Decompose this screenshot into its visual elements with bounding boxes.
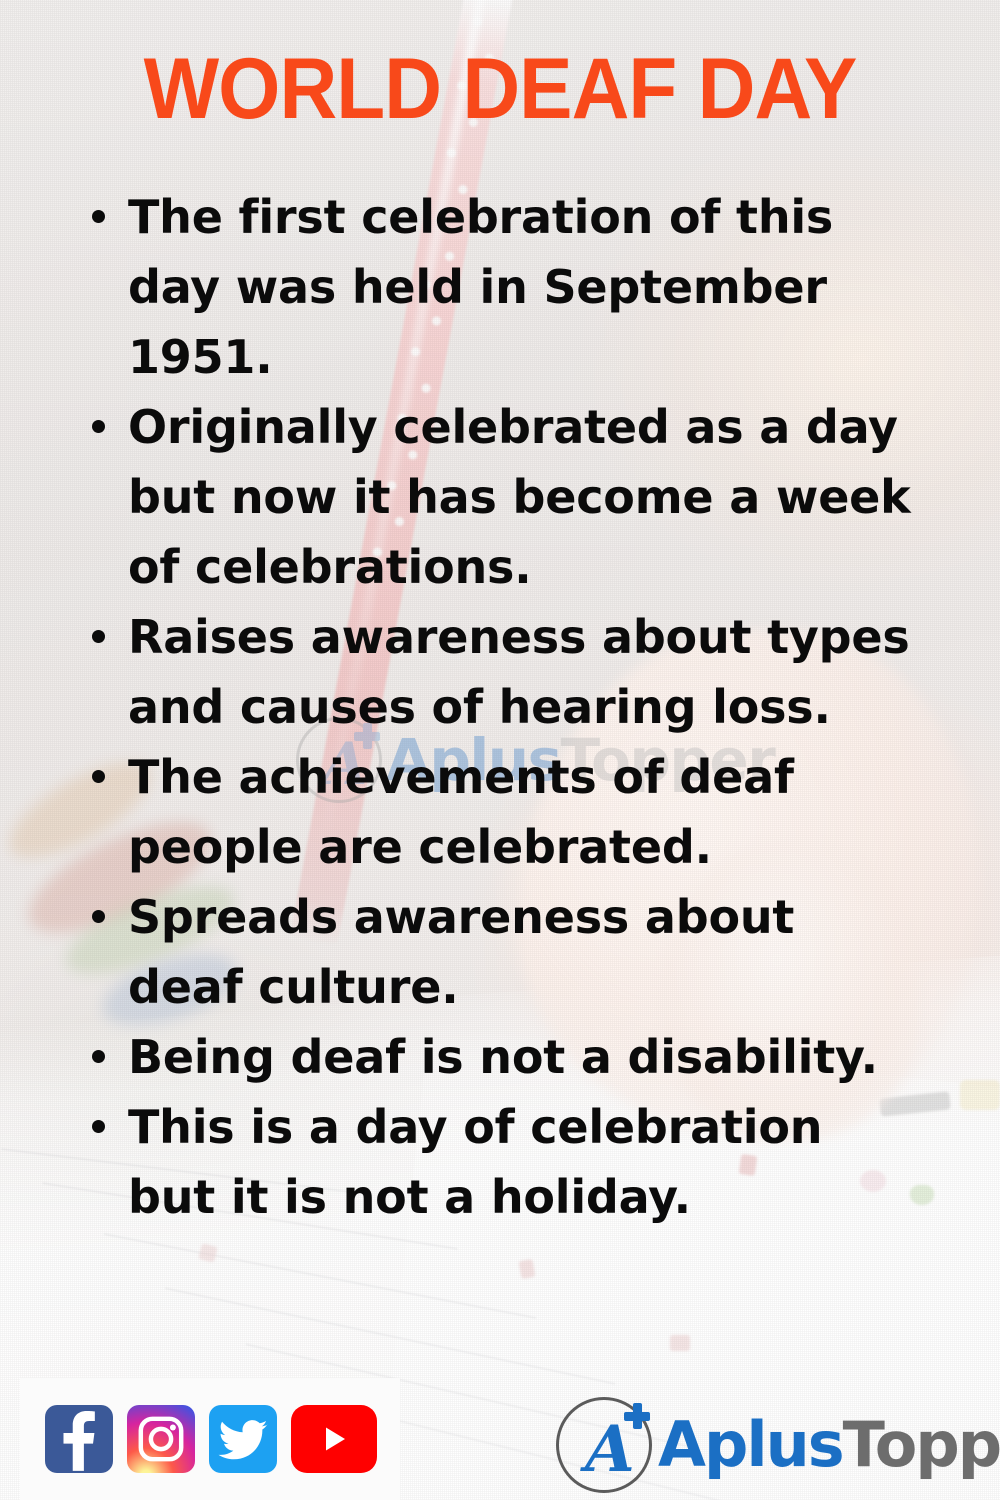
list-item: Being deaf is not a disability. (86, 1022, 916, 1092)
list-item: Raises awareness about types and causes … (86, 602, 916, 742)
brand-first: Aplus (658, 1408, 843, 1481)
twitter-icon[interactable] (209, 1405, 277, 1473)
list-item: The achievements of deaf people are cele… (86, 742, 916, 882)
mark-plus-icon (624, 1403, 650, 1429)
social-links-panel (20, 1378, 400, 1500)
poster-content: WORLD DEAF DAY The first celebration of … (0, 0, 1000, 1500)
facebook-icon[interactable] (45, 1405, 113, 1473)
aplustopper-mark-icon: A (556, 1397, 652, 1493)
bullet-list: The first celebration of this day was he… (86, 182, 916, 1232)
list-item: Spreads awareness about deaf culture. (86, 882, 916, 1022)
page-title: WORLD DEAF DAY (35, 46, 965, 132)
list-item: The first celebration of this day was he… (86, 182, 916, 392)
brand-wordmark: AplusTopper (658, 1414, 1000, 1476)
brand-second: Topper (843, 1408, 1000, 1481)
list-item: This is a day of celebration but it is n… (86, 1092, 916, 1232)
instagram-icon[interactable] (127, 1405, 195, 1473)
list-item: Originally celebrated as a day but now i… (86, 392, 916, 602)
poster-canvas: A AplusTopper WORLD DEAF DAY The first c… (0, 0, 1000, 1500)
aplustopper-logo[interactable]: A AplusTopper (556, 1395, 1000, 1495)
youtube-icon[interactable] (291, 1405, 377, 1473)
